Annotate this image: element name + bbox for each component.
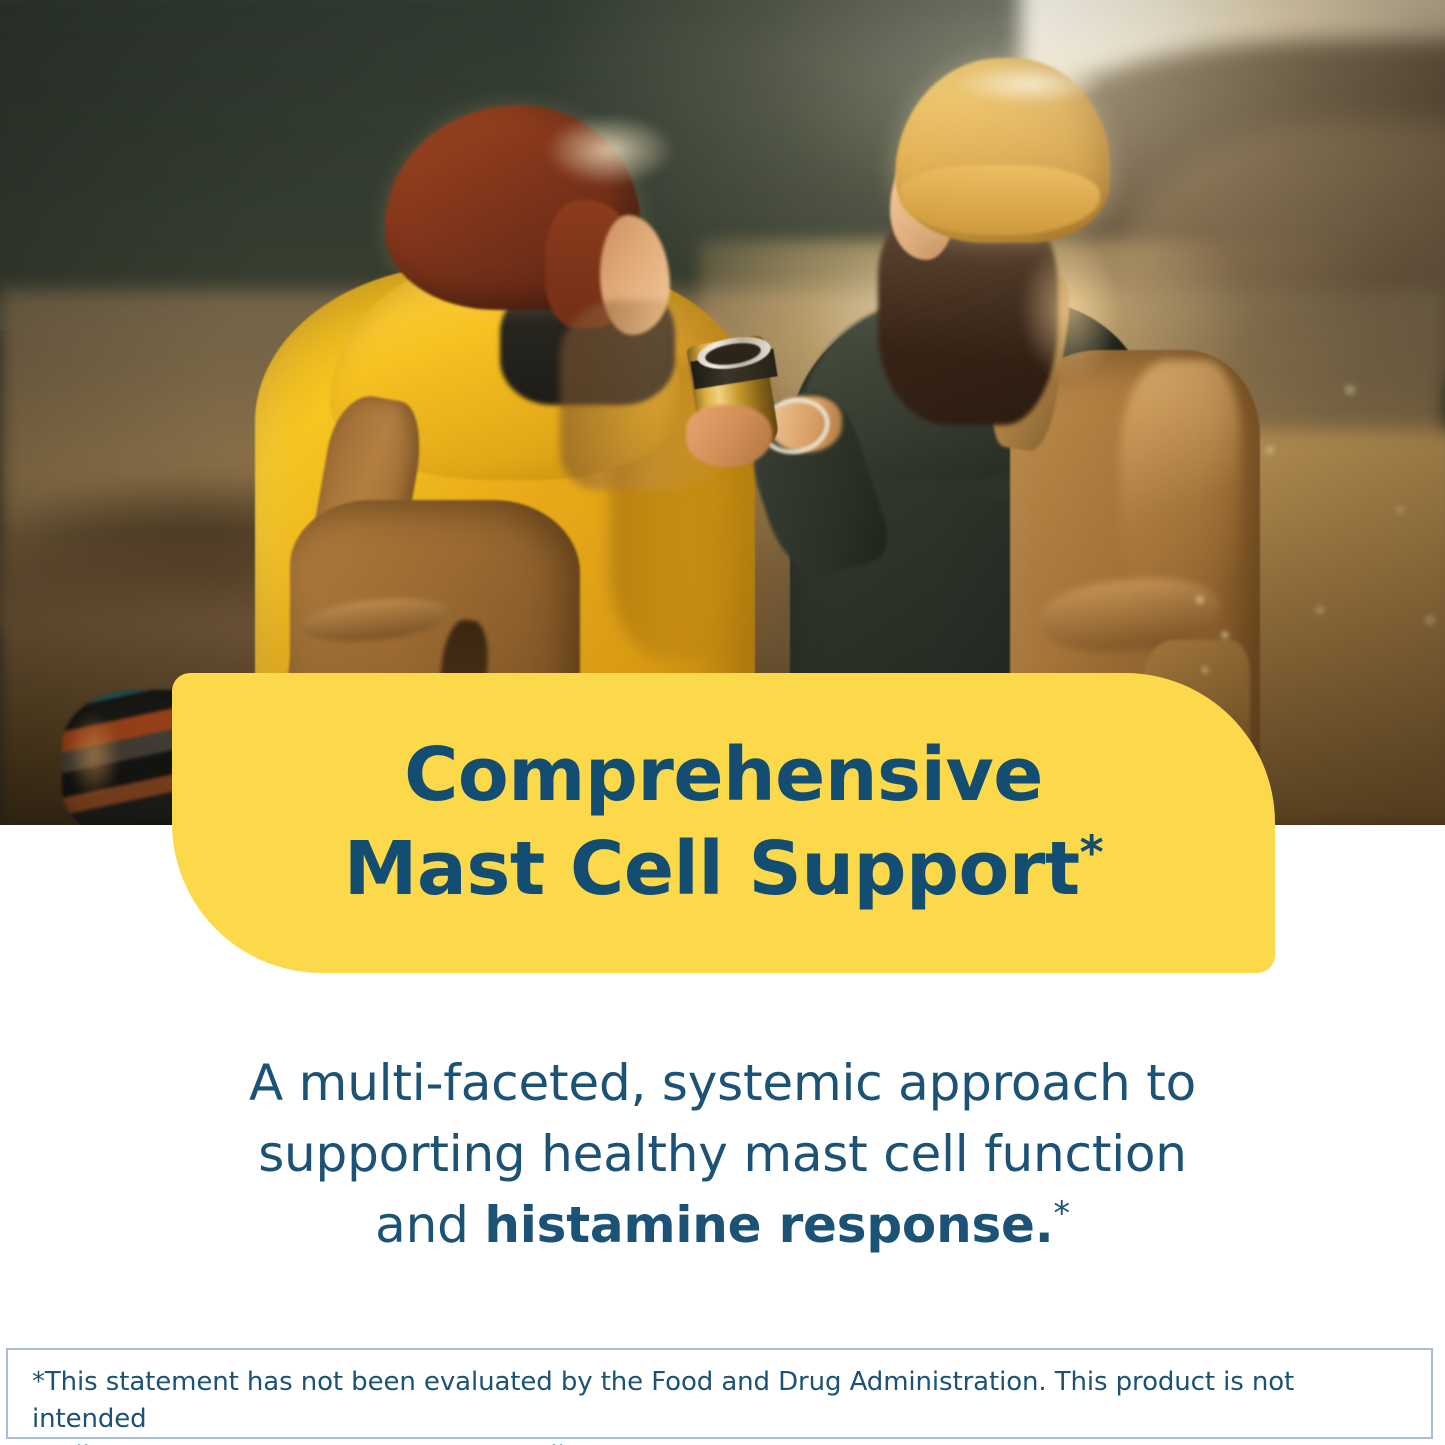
subheadline: A multi-faceted, systemic approach to su… [120, 1048, 1325, 1261]
subheadline-line-3-prefix: and [375, 1196, 484, 1254]
headline-line-1: Comprehensive [404, 729, 1043, 823]
subheadline-line-3-bold: histamine response. [484, 1196, 1053, 1254]
headline-line-2-text: Mast Cell Support [344, 826, 1080, 912]
disclaimer-line-2: to diagnose, treat, cure or prevent any … [32, 1438, 1407, 1445]
subheadline-line-1: A multi-faceted, systemic approach to [120, 1048, 1325, 1119]
headline-line-2: Mast Cell Support* [344, 823, 1103, 917]
headline-banner: Comprehensive Mast Cell Support* [172, 673, 1275, 973]
disclaimer-line-1: *This statement has not been evaluated b… [32, 1364, 1407, 1438]
product-infographic-page: Comprehensive Mast Cell Support* A multi… [0, 0, 1445, 1445]
subheadline-asterisk: * [1054, 1193, 1070, 1232]
subheadline-line-3: and histamine response.* [120, 1190, 1325, 1261]
backlit-hair-glow-left [520, 100, 680, 210]
left-hand-holding-cup [686, 405, 772, 467]
scarf-rim-light [58, 700, 118, 810]
headline-asterisk: * [1080, 825, 1104, 879]
fda-disclaimer-box: *This statement has not been evaluated b… [6, 1348, 1433, 1439]
subheadline-line-2: supporting healthy mast cell function [120, 1119, 1325, 1190]
canvas-backpack-drawstrings [1180, 580, 1250, 690]
beanie-rim-light [930, 54, 1120, 124]
